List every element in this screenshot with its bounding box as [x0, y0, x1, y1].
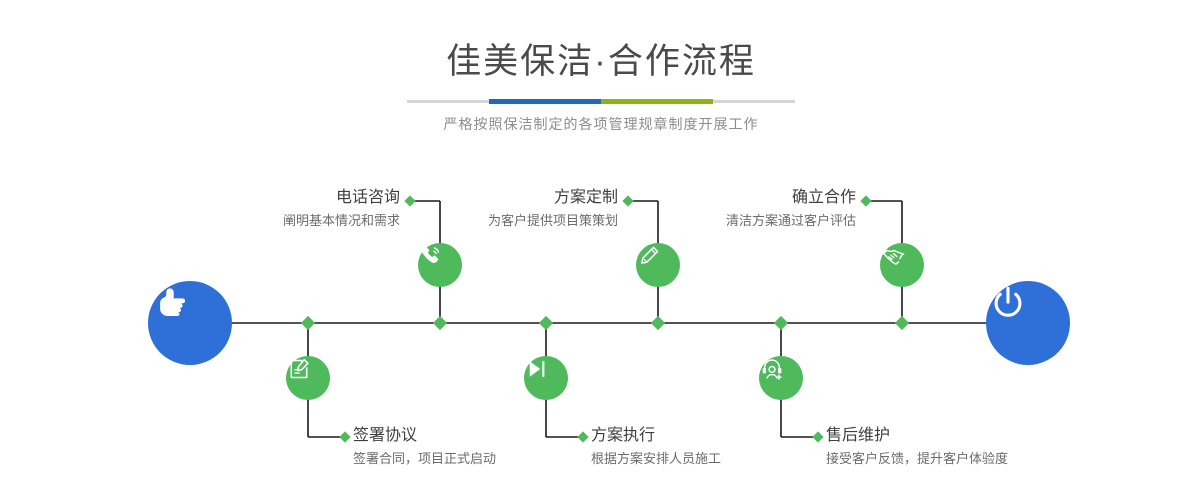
- flow-start-node[interactable]: [148, 281, 232, 365]
- step-node-phone-call[interactable]: [418, 243, 462, 287]
- label-diamond-bottom-2: [577, 431, 588, 442]
- label-diamond-bottom-3: [812, 431, 823, 442]
- step-desc: 清洁方案通过客户评估: [726, 212, 856, 231]
- label-diamond-top-1: [404, 195, 415, 206]
- step-node-customer-support[interactable]: [759, 356, 803, 400]
- timeline-diamond-4: [651, 316, 665, 330]
- step-label-bottom-2: 方案执行 根据方案安排人员施工: [591, 424, 721, 469]
- timeline-diamond-6: [895, 316, 909, 330]
- timeline-diamond-1: [301, 316, 315, 330]
- label-diamond-top-3: [860, 195, 871, 206]
- step-title: 售后维护: [826, 424, 1008, 447]
- step-label-bottom-1: 签署协议 签署合同，项目正式启动: [353, 424, 496, 469]
- step-title: 方案执行: [591, 424, 721, 447]
- step-desc: 为客户提供项目策策划: [488, 212, 618, 231]
- step-desc: 阐明基本情况和需求: [283, 212, 400, 231]
- step-title: 方案定制: [488, 186, 618, 209]
- step-desc: 根据方案安排人员施工: [591, 450, 721, 469]
- step-title: 签署协议: [353, 424, 496, 447]
- flow-end-node[interactable]: [986, 281, 1070, 365]
- step-node-handshake[interactable]: [880, 243, 924, 287]
- step-title: 电话咨询: [283, 186, 400, 209]
- step-label-top-3: 确立合作 清洁方案通过客户评估: [726, 186, 856, 231]
- process-flow-diagram: 电话咨询 阐明基本情况和需求 方案定制 为客户提供项目策策划 确立合作 清洁方案…: [0, 0, 1202, 502]
- step-node-pencil-edit[interactable]: [636, 243, 680, 287]
- step-label-top-2: 方案定制 为客户提供项目策策划: [488, 186, 618, 231]
- step-node-document-sign[interactable]: [286, 356, 330, 400]
- step-title: 确立合作: [726, 186, 856, 209]
- timeline-diamond-2: [433, 316, 447, 330]
- timeline-diamond-5: [774, 316, 788, 330]
- step-label-bottom-3: 售后维护 接受客户反馈，提升客户体验度: [826, 424, 1008, 469]
- label-diamond-bottom-1: [339, 431, 350, 442]
- step-label-top-1: 电话咨询 阐明基本情况和需求: [283, 186, 400, 231]
- label-diamond-top-2: [622, 195, 633, 206]
- step-node-play-execute[interactable]: [524, 356, 568, 400]
- step-desc: 接受客户反馈，提升客户体验度: [826, 450, 1008, 469]
- timeline-diamond-3: [539, 316, 553, 330]
- step-desc: 签署合同，项目正式启动: [353, 450, 496, 469]
